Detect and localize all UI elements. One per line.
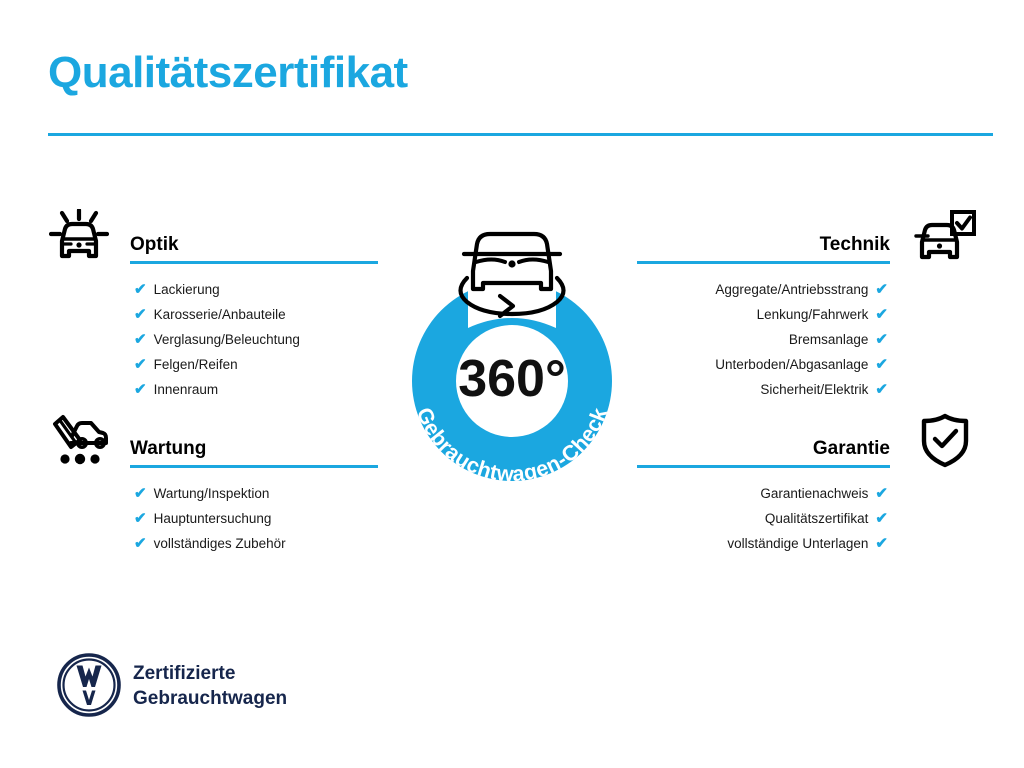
section-technik: Technik Aggregate/Antriebsstrang✔ Lenkun… (636, 208, 976, 407)
title-divider (48, 133, 993, 136)
list-item-label: Unterboden/Abgasanlage (715, 358, 868, 372)
page-title: Qualitätszertifikat (48, 48, 408, 98)
car-lift-oil-drops-icon (48, 412, 110, 470)
list-item: ✔Lackierung (48, 282, 388, 297)
section-garantie: Garantie Garantienachweis✔ Qualitätszert… (636, 412, 976, 561)
list-item-label: Karosserie/Anbauteile (154, 308, 286, 322)
car-polish-shine-icon (48, 208, 110, 266)
list-item-label: Lackierung (154, 283, 220, 297)
check-icon: ✔ (875, 486, 888, 501)
list-item: ✔vollständiges Zubehör (48, 536, 388, 551)
check-icon: ✔ (875, 511, 888, 526)
section-header: Wartung (48, 412, 388, 474)
check-icon: ✔ (875, 357, 888, 372)
list-item: ✔Innenraum (48, 382, 388, 397)
list-item: ✔Hauptuntersuchung (48, 511, 388, 526)
list-item-label: Bremsanlage (789, 333, 869, 347)
list-item-label: Wartung/Inspektion (154, 487, 270, 501)
check-icon: ✔ (875, 536, 888, 551)
check-icon: ✔ (134, 382, 147, 397)
list-item: Lenkung/Fahrwerk✔ (636, 307, 976, 322)
vw-wordmark-line1: Zertifizierte (133, 663, 235, 684)
section-header: Optik (48, 208, 388, 270)
list-item: vollständige Unterlagen✔ (636, 536, 976, 551)
check-icon: ✔ (134, 332, 147, 347)
check-icon: ✔ (875, 307, 888, 322)
car-checkbox-icon (914, 208, 976, 266)
checklist-wartung: ✔Wartung/Inspektion ✔Hauptuntersuchung ✔… (48, 486, 388, 551)
badge-360-check: 360° Gebrauchtwagen-Check (372, 196, 652, 486)
list-item: Sicherheit/Elektrik✔ (636, 382, 976, 397)
list-item: ✔Verglasung/Beleuchtung (48, 332, 388, 347)
certificate-page: Qualitätszertifikat (0, 0, 1024, 768)
list-item: ✔Wartung/Inspektion (48, 486, 388, 501)
check-icon: ✔ (134, 536, 147, 551)
list-item-label: Qualitätszertifikat (765, 512, 869, 526)
section-wartung: Wartung ✔Wartung/Inspektion ✔Hauptunters… (48, 412, 388, 561)
check-icon: ✔ (134, 307, 147, 322)
list-item: Aggregate/Antriebsstrang✔ (636, 282, 976, 297)
check-icon: ✔ (134, 357, 147, 372)
vw-logo (56, 652, 126, 722)
list-item: Garantienachweis✔ (636, 486, 976, 501)
list-item-label: vollständiges Zubehör (154, 537, 286, 551)
list-item-label: Verglasung/Beleuchtung (154, 333, 300, 347)
check-icon: ✔ (875, 282, 888, 297)
checklist-technik: Aggregate/Antriebsstrang✔ Lenkung/Fahrwe… (636, 282, 976, 397)
list-item: Unterboden/Abgasanlage✔ (636, 357, 976, 372)
section-divider (637, 465, 890, 468)
section-header: Garantie (636, 412, 976, 474)
list-item: ✔Felgen/Reifen (48, 357, 388, 372)
list-item-label: Hauptuntersuchung (154, 512, 272, 526)
check-icon: ✔ (134, 486, 147, 501)
section-divider (130, 261, 378, 264)
section-divider (130, 465, 378, 468)
list-item: Bremsanlage✔ (636, 332, 976, 347)
section-optik: Optik ✔Lackierung ✔Karosserie/Anbauteile… (48, 208, 388, 407)
list-item-label: Felgen/Reifen (154, 358, 238, 372)
checklist-optik: ✔Lackierung ✔Karosserie/Anbauteile ✔Verg… (48, 282, 388, 397)
badge-center-text: 360° (458, 350, 566, 408)
section-title: Technik (820, 234, 890, 256)
list-item-label: Sicherheit/Elektrik (760, 383, 868, 397)
check-icon: ✔ (134, 282, 147, 297)
list-item-label: vollständige Unterlagen (727, 537, 868, 551)
section-divider (637, 261, 890, 264)
vw-wordmark: Zertifizierte Gebrauchtwagen (133, 661, 287, 711)
list-item-label: Garantienachweis (760, 487, 868, 501)
section-title: Wartung (130, 438, 206, 460)
checklist-garantie: Garantienachweis✔ Qualitätszertifikat✔ v… (636, 486, 976, 551)
list-item-label: Lenkung/Fahrwerk (757, 308, 869, 322)
check-icon: ✔ (134, 511, 147, 526)
list-item: Qualitätszertifikat✔ (636, 511, 976, 526)
list-item-label: Innenraum (154, 383, 219, 397)
check-icon: ✔ (875, 382, 888, 397)
section-header: Technik (636, 208, 976, 270)
check-icon: ✔ (875, 332, 888, 347)
list-item-label: Aggregate/Antriebsstrang (715, 283, 868, 297)
section-title: Garantie (813, 438, 890, 460)
vw-wordmark-line2: Gebrauchtwagen (133, 688, 287, 709)
shield-check-icon (914, 412, 976, 470)
section-title: Optik (130, 234, 179, 256)
list-item: ✔Karosserie/Anbauteile (48, 307, 388, 322)
